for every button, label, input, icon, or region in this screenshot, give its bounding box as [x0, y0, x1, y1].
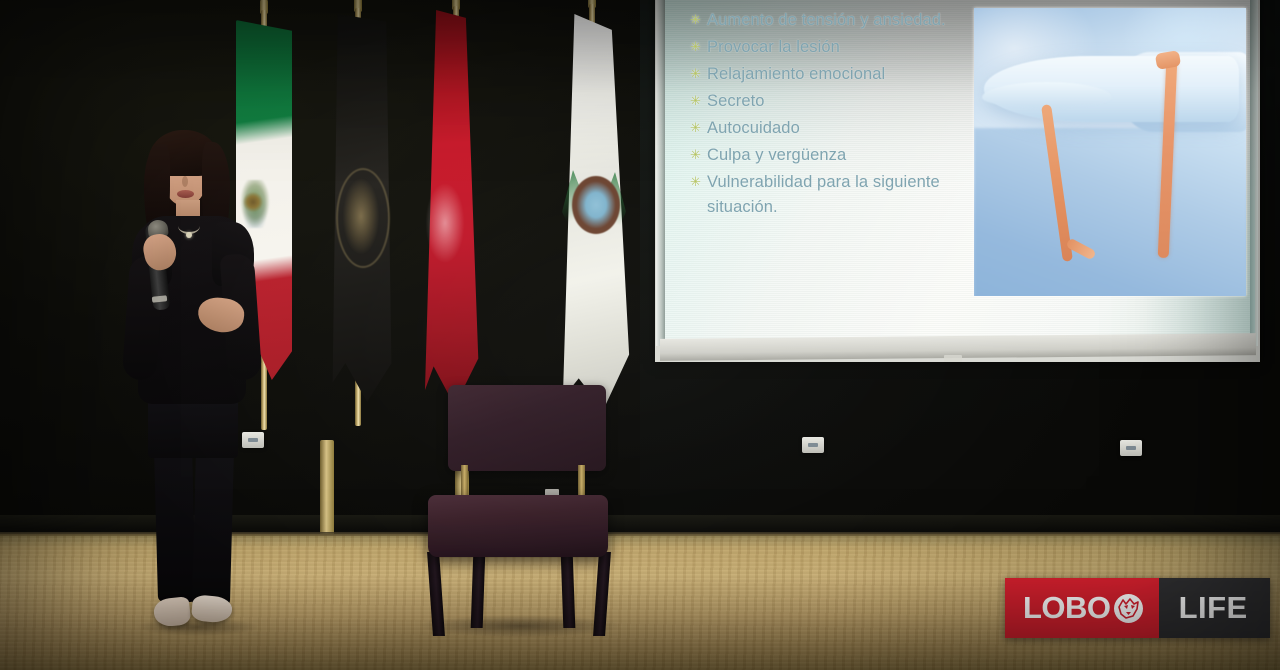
state-coat-of-arms	[572, 176, 620, 234]
screen-center-clip	[944, 355, 962, 362]
outlet-slot	[808, 443, 818, 447]
list-item: ✳ Vulnerabilidad para la siguiente situa…	[690, 170, 958, 220]
list-item: ✳ Aumento de tensión y ansiedad.	[690, 8, 958, 33]
bullet-text: Relajamiento emocional	[707, 62, 885, 87]
bullet-text: Aumento de tensión y ansiedad.	[707, 8, 946, 33]
chair-backrest	[448, 385, 606, 471]
wall-outlet	[802, 437, 824, 453]
bullet-text: Autocuidado	[707, 116, 800, 141]
list-item: ✳ Provocar la lesión	[690, 35, 958, 60]
chair-post-right	[578, 465, 585, 497]
presenter-leg-left	[154, 446, 196, 602]
bullet-marker-icon: ✳	[690, 143, 700, 167]
bullet-text: Secreto	[707, 89, 765, 114]
bullet-marker-icon: ✳	[690, 35, 700, 59]
lobo-life-logo: LOBO LIFE	[1005, 578, 1270, 638]
list-item: ✳ Relajamiento emocional	[690, 62, 958, 87]
wolf-head-icon	[1114, 594, 1143, 623]
bullet-marker-icon: ✳	[690, 8, 700, 32]
chair-post-left	[461, 465, 468, 497]
list-item: ✳ Secreto	[690, 89, 958, 114]
screen-left-rail	[656, 0, 665, 346]
slide-photo-hand-ribbon	[974, 8, 1246, 296]
presenter	[120, 128, 300, 648]
outlet-slot	[1126, 446, 1136, 450]
presenter-mouth	[177, 190, 194, 198]
logo-right-block: LIFE	[1159, 578, 1270, 638]
bullet-marker-icon: ✳	[690, 116, 700, 140]
logo-word-life: LIFE	[1179, 590, 1248, 626]
red-flag-emblem	[424, 180, 466, 266]
screen-right-rail	[1250, 0, 1258, 346]
slide-bullet-list: ✳ Aumento de tensión y ansiedad. ✳ Provo…	[690, 8, 958, 222]
list-item: ✳ Autocuidado	[690, 116, 958, 141]
presenter-shadow	[138, 618, 258, 636]
bullet-marker-icon: ✳	[690, 62, 700, 86]
bullet-marker-icon: ✳	[690, 170, 700, 194]
chair-seat	[428, 495, 608, 557]
logo-word-lobo: LOBO	[1023, 590, 1111, 626]
wall-outlet	[1120, 440, 1142, 456]
bullet-text: Culpa y vergüenza	[707, 143, 846, 168]
black-flag-emblem	[340, 176, 382, 260]
bullet-text: Vulnerabilidad para la siguiente situaci…	[707, 170, 958, 220]
bullet-text: Provocar la lesión	[707, 35, 840, 60]
presenter-nose	[182, 176, 188, 187]
presenter-leg-right	[192, 446, 234, 606]
logo-left-block: LOBO	[1005, 578, 1159, 638]
bullet-marker-icon: ✳	[690, 89, 700, 113]
photo-fabric	[974, 128, 1246, 296]
screenshot-stage: ✳ Aumento de tensión y ansiedad. ✳ Provo…	[0, 0, 1280, 670]
chair-shadow	[420, 615, 620, 637]
presenter-pendant	[186, 232, 192, 238]
list-item: ✳ Culpa y vergüenza	[690, 143, 958, 168]
